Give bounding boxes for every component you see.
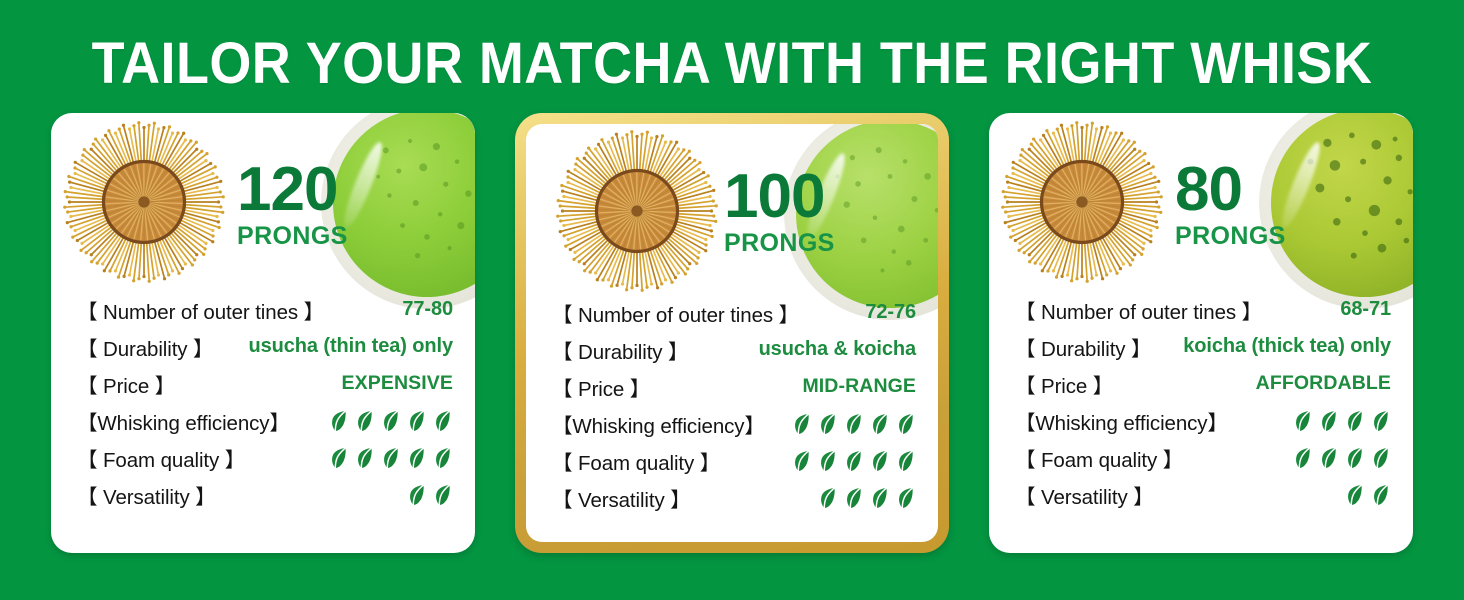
spec-label: 【 Foam quality 】 — [1015, 443, 1183, 473]
spec-row-whisking: 【Whisking efficiency】 — [1015, 402, 1391, 439]
spec-row-whisking: 【Whisking efficiency】 — [77, 402, 453, 439]
leaf-rating-icon — [434, 483, 453, 507]
spec-label: 【 Durability 】 — [77, 332, 213, 362]
leaf-rating-icon — [1372, 409, 1391, 433]
matcha-whisk-icon — [556, 130, 718, 292]
spec-label: 【 Durability 】 — [552, 335, 688, 365]
spec-label: 【 Price 】 — [77, 369, 175, 399]
spec-value: EXPENSIVE — [342, 372, 453, 395]
spec-label: 【 Number of outer tines 】 — [552, 298, 799, 328]
leaf-rating-icon — [1320, 446, 1339, 470]
leaf-rating-icon — [871, 412, 890, 436]
spec-value: 77-80 — [402, 298, 453, 321]
rating-leaves — [1294, 409, 1391, 433]
spec-value: MID-RANGE — [802, 375, 916, 398]
spec-label: 【 Versatility 】 — [77, 480, 216, 510]
leaf-rating-icon — [382, 409, 401, 433]
prong-count: 80 — [1175, 161, 1286, 220]
prong-count-block: 120 PRONGS — [237, 161, 348, 251]
card-hero: 80 PRONGS — [989, 113, 1413, 291]
matcha-whisk-comparison-banner: TAILOR YOUR MATCHA WITH THE RIGHT WHISK — [0, 0, 1464, 600]
spec-label: 【 Price 】 — [552, 372, 650, 402]
leaf-rating-icon — [871, 486, 890, 510]
spec-row-durability: 【 Durability 】 usucha & koicha — [552, 331, 916, 368]
rating-leaves — [1294, 446, 1391, 470]
spec-label: 【 Number of outer tines 】 — [1015, 295, 1262, 325]
spec-label: 【 Foam quality 】 — [77, 443, 245, 473]
leaf-rating-icon — [845, 412, 864, 436]
spec-label: 【 Foam quality 】 — [552, 446, 720, 476]
spec-row-foam: 【 Foam quality 】 — [1015, 439, 1391, 476]
spec-list: 【 Number of outer tines 】 68-71 【 Durabi… — [989, 291, 1413, 513]
leaf-rating-icon — [356, 409, 375, 433]
rating-leaves — [330, 446, 453, 470]
spec-row-tines: 【 Number of outer tines 】 72-76 — [552, 294, 916, 331]
leaf-rating-icon — [408, 446, 427, 470]
leaf-rating-icon — [819, 449, 838, 473]
spec-value: AFFORDABLE — [1256, 372, 1391, 395]
leaf-rating-icon — [819, 486, 838, 510]
spec-row-foam: 【 Foam quality 】 — [552, 442, 916, 479]
spec-row-versatility: 【 Versatility 】 — [552, 479, 916, 516]
prong-count: 100 — [724, 168, 835, 227]
card-surface: 80 PRONGS 【 Number of outer tines 】 68-7… — [989, 113, 1413, 553]
spec-value: koicha (thick tea) only — [1183, 335, 1391, 358]
leaf-rating-icon — [897, 412, 916, 436]
leaf-rating-icon — [1372, 483, 1391, 507]
spec-list: 【 Number of outer tines 】 72-76 【 Durabi… — [526, 294, 938, 516]
card-surface: 100 PRONGS 【 Number of outer tines 】 72-… — [526, 124, 938, 542]
leaf-rating-icon — [897, 486, 916, 510]
card-hero: 100 PRONGS — [526, 124, 938, 294]
leaf-rating-icon — [408, 483, 427, 507]
matcha-whisk-icon — [1001, 121, 1163, 283]
spec-label: 【 Durability 】 — [1015, 332, 1151, 362]
leaf-rating-icon — [330, 409, 349, 433]
spec-row-versatility: 【 Versatility 】 — [77, 476, 453, 513]
rating-leaves — [408, 483, 453, 507]
rating-leaves — [330, 409, 453, 433]
spec-value: usucha & koicha — [759, 338, 916, 361]
leaf-rating-icon — [1346, 483, 1365, 507]
leaf-rating-icon — [793, 412, 812, 436]
spec-label: 【 Versatility 】 — [1015, 480, 1154, 510]
leaf-rating-icon — [793, 449, 812, 473]
prong-count-label: PRONGS — [724, 229, 835, 258]
leaf-rating-icon — [434, 446, 453, 470]
spec-row-whisking: 【Whisking efficiency】 — [552, 405, 916, 442]
leaf-rating-icon — [1346, 409, 1365, 433]
spec-list: 【 Number of outer tines 】 77-80 【 Durabi… — [51, 291, 475, 513]
page-title: TAILOR YOUR MATCHA WITH THE RIGHT WHISK — [51, 30, 1413, 97]
spec-row-foam: 【 Foam quality 】 — [77, 439, 453, 476]
leaf-rating-icon — [871, 449, 890, 473]
spec-row-price: 【 Price 】 MID-RANGE — [552, 368, 916, 405]
spec-value: 72-76 — [865, 301, 916, 324]
spec-label: 【Whisking efficiency】 — [77, 406, 290, 436]
whisk-card-120[interactable]: 120 PRONGS 【 Number of outer tines 】 77-… — [51, 113, 475, 553]
prong-count-label: PRONGS — [237, 222, 348, 251]
card-hero: 120 PRONGS — [51, 113, 475, 291]
leaf-rating-icon — [1372, 446, 1391, 470]
prong-count-label: PRONGS — [1175, 222, 1286, 251]
leaf-rating-icon — [845, 449, 864, 473]
leaf-rating-icon — [819, 412, 838, 436]
leaf-rating-icon — [330, 446, 349, 470]
prong-count-block: 80 PRONGS — [1175, 161, 1286, 251]
spec-row-price: 【 Price 】 EXPENSIVE — [77, 365, 453, 402]
leaf-rating-icon — [1294, 446, 1313, 470]
prong-count-block: 100 PRONGS — [724, 168, 835, 258]
spec-row-tines: 【 Number of outer tines 】 68-71 — [1015, 291, 1391, 328]
prong-count: 120 — [237, 161, 348, 220]
spec-value: 68-71 — [1340, 298, 1391, 321]
spec-label: 【 Versatility 】 — [552, 483, 691, 513]
rating-leaves — [819, 486, 916, 510]
spec-label: 【 Price 】 — [1015, 369, 1113, 399]
matcha-whisk-icon — [63, 121, 225, 283]
rating-leaves — [793, 412, 916, 436]
leaf-rating-icon — [434, 409, 453, 433]
spec-label: 【Whisking efficiency】 — [552, 409, 765, 439]
leaf-rating-icon — [1320, 409, 1339, 433]
leaf-rating-icon — [408, 409, 427, 433]
spec-label: 【Whisking efficiency】 — [1015, 406, 1228, 436]
rating-leaves — [793, 449, 916, 473]
rating-leaves — [1346, 483, 1391, 507]
card-surface: 120 PRONGS 【 Number of outer tines 】 77-… — [51, 113, 475, 553]
spec-row-durability: 【 Durability 】 koicha (thick tea) only — [1015, 328, 1391, 365]
leaf-rating-icon — [1346, 446, 1365, 470]
whisk-card-100[interactable]: 100 PRONGS 【 Number of outer tines 】 72-… — [515, 113, 949, 553]
leaf-rating-icon — [897, 449, 916, 473]
whisk-card-80[interactable]: 80 PRONGS 【 Number of outer tines 】 68-7… — [989, 113, 1413, 553]
spec-label: 【 Number of outer tines 】 — [77, 295, 324, 325]
leaf-rating-icon — [1294, 409, 1313, 433]
leaf-rating-icon — [382, 446, 401, 470]
comparison-cards-row: 120 PRONGS 【 Number of outer tines 】 77-… — [0, 113, 1464, 558]
leaf-rating-icon — [845, 486, 864, 510]
spec-row-durability: 【 Durability 】 usucha (thin tea) only — [77, 328, 453, 365]
spec-row-tines: 【 Number of outer tines 】 77-80 — [77, 291, 453, 328]
leaf-rating-icon — [356, 446, 375, 470]
spec-row-price: 【 Price 】 AFFORDABLE — [1015, 365, 1391, 402]
spec-value: usucha (thin tea) only — [249, 335, 453, 358]
spec-row-versatility: 【 Versatility 】 — [1015, 476, 1391, 513]
